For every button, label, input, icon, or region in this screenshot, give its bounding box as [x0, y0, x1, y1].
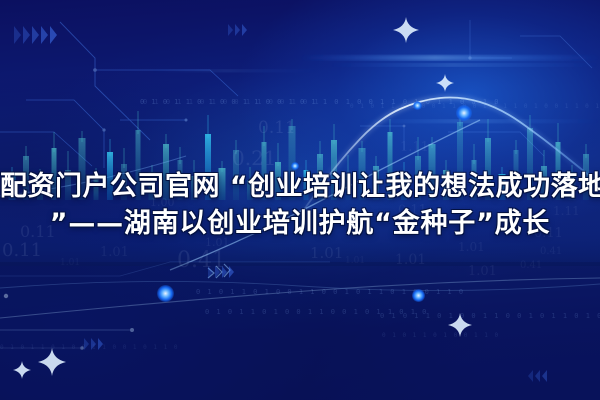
promo-banner: 0 1 0 1 1 0 1 0 0 1 1 0 0 1 0 1 1 0 1 0 …: [0, 0, 600, 400]
circuit-traces-right: [360, 20, 592, 156]
bar-chart-band: [9, 109, 590, 200]
light-beams: [150, 56, 600, 122]
band-fade: [0, 196, 600, 266]
background-graphics: [0, 0, 600, 400]
bottom-vignette: [0, 262, 600, 400]
circuit-traces: [0, 22, 238, 168]
